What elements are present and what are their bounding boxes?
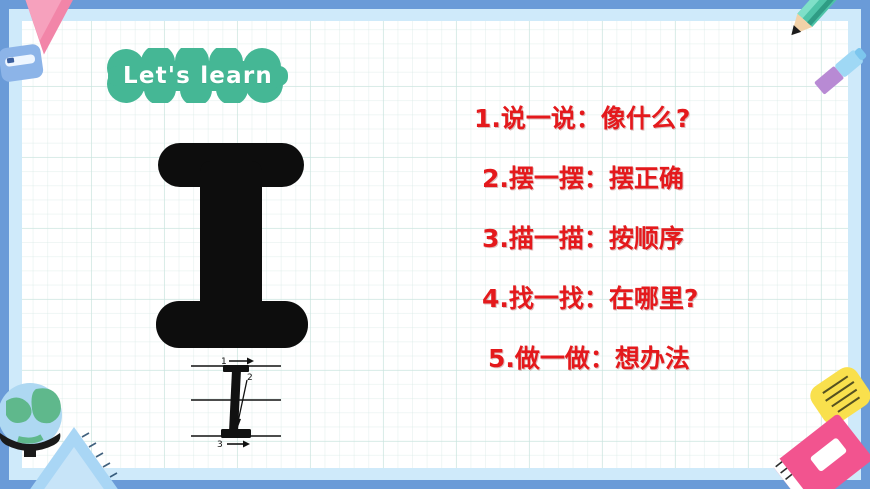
stroke-order-diagram: 1 2 3 xyxy=(185,354,293,468)
instruction-item-1: 1.说一说：像什么? xyxy=(474,99,804,135)
instruction-item-5: 5.做一做：想办法 xyxy=(488,339,804,375)
instruction-list: 1.说一说：像什么? 2.摆一摆：摆正确 3.描一描：按顺序 4.找一找：在哪里… xyxy=(474,99,804,375)
stroke-arrow-3 xyxy=(227,441,250,448)
stroke-label-3: 3 xyxy=(217,440,223,450)
big-letter-i xyxy=(150,139,320,354)
stroke-label-1: 1 xyxy=(221,357,227,367)
grid-paper-area: Let's learn xyxy=(22,21,848,468)
stroke-arrow-1 xyxy=(229,358,254,365)
instruction-item-3: 3.描一描：按顺序 xyxy=(482,219,804,255)
lets-learn-label: Let's learn xyxy=(96,48,300,103)
instruction-item-2: 2.摆一摆：摆正确 xyxy=(482,159,804,195)
lets-learn-badge[interactable]: Let's learn xyxy=(96,48,300,103)
letter-i-glyph xyxy=(150,139,320,354)
stroke-label-2: 2 xyxy=(247,373,253,383)
stroke-order-svg: 1 2 3 xyxy=(185,354,293,468)
slide-canvas: Let's learn xyxy=(0,0,870,489)
instruction-item-4: 4.找一找：在哪里? xyxy=(482,279,804,315)
